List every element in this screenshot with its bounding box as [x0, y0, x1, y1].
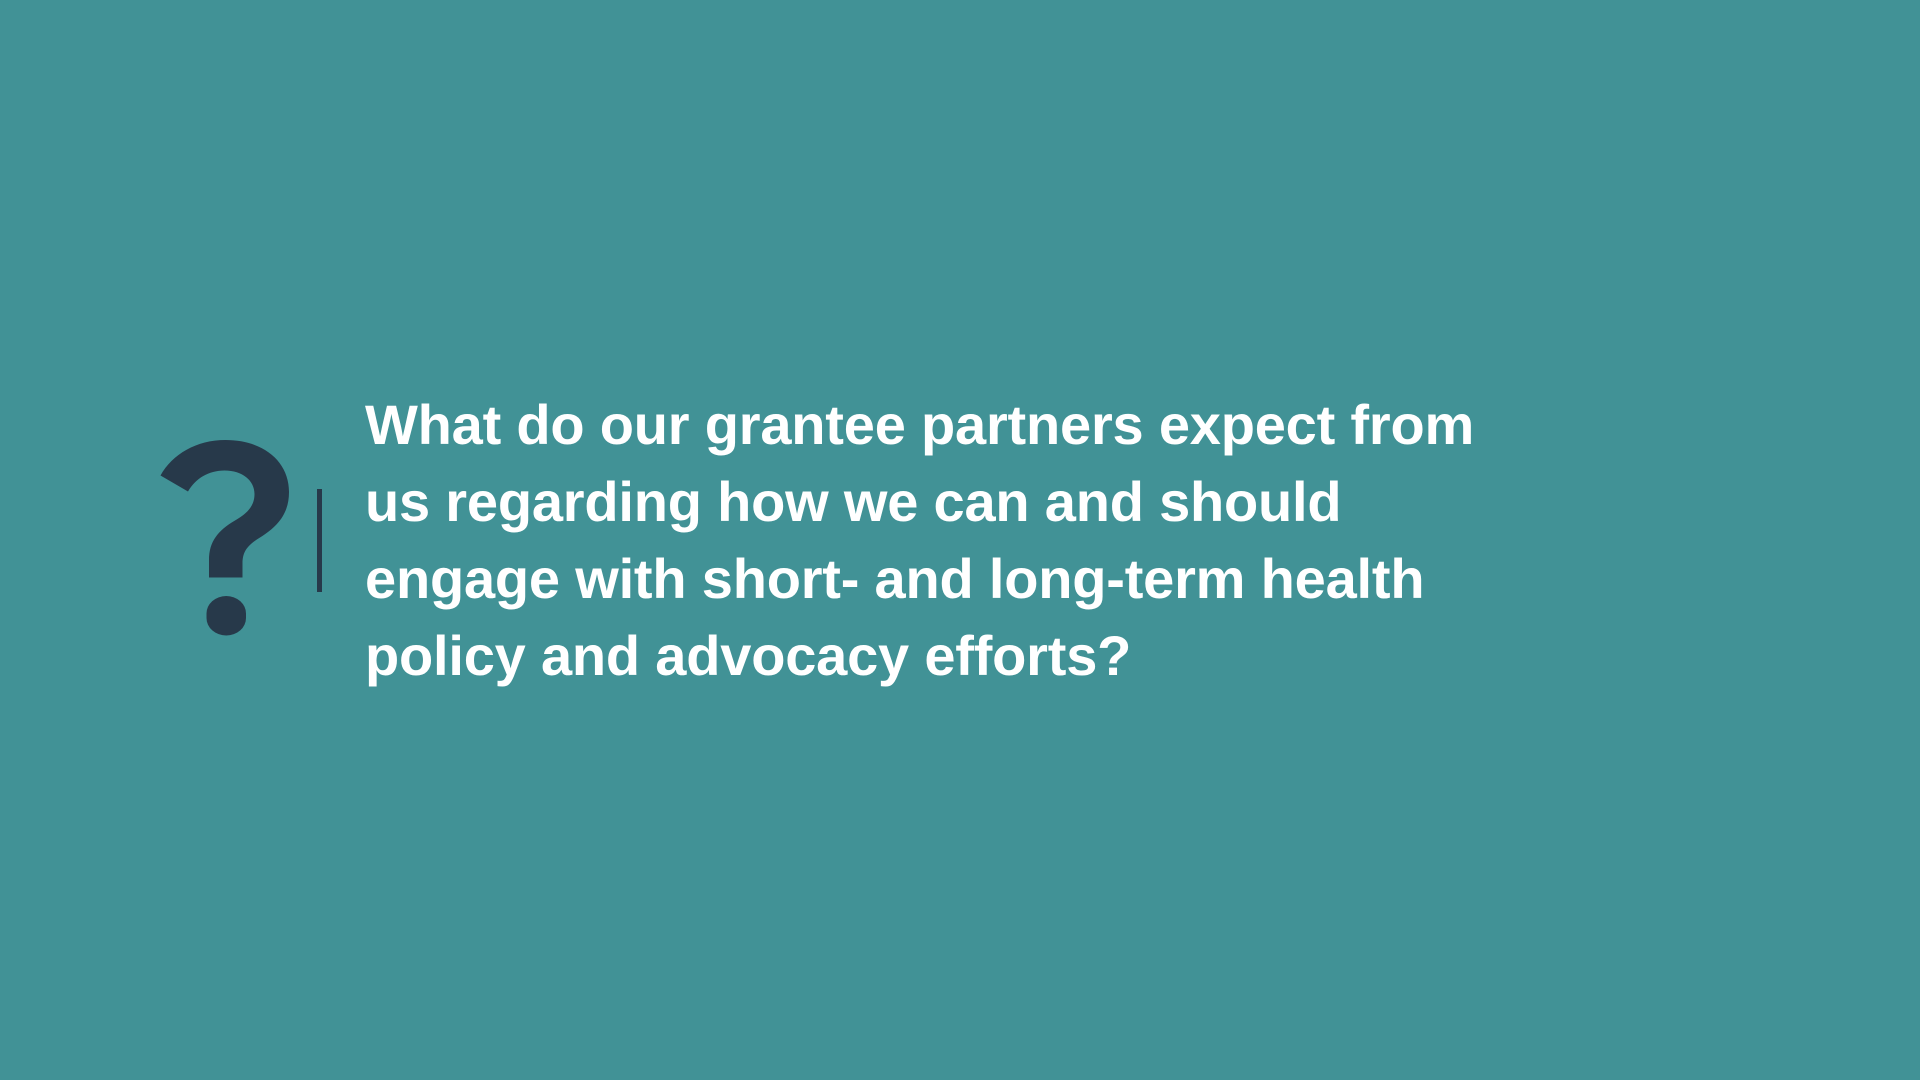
question-mark-icon	[150, 440, 300, 640]
vertical-divider	[317, 489, 322, 592]
slide-content-row: What do our grantee partners expect from…	[0, 0, 1920, 1080]
question-slide: What do our grantee partners expect from…	[0, 0, 1920, 1080]
headline-block: What do our grantee partners expect from…	[365, 386, 1474, 694]
page-title: What do our grantee partners expect from…	[365, 386, 1474, 694]
question-mark-block	[125, 440, 325, 640]
